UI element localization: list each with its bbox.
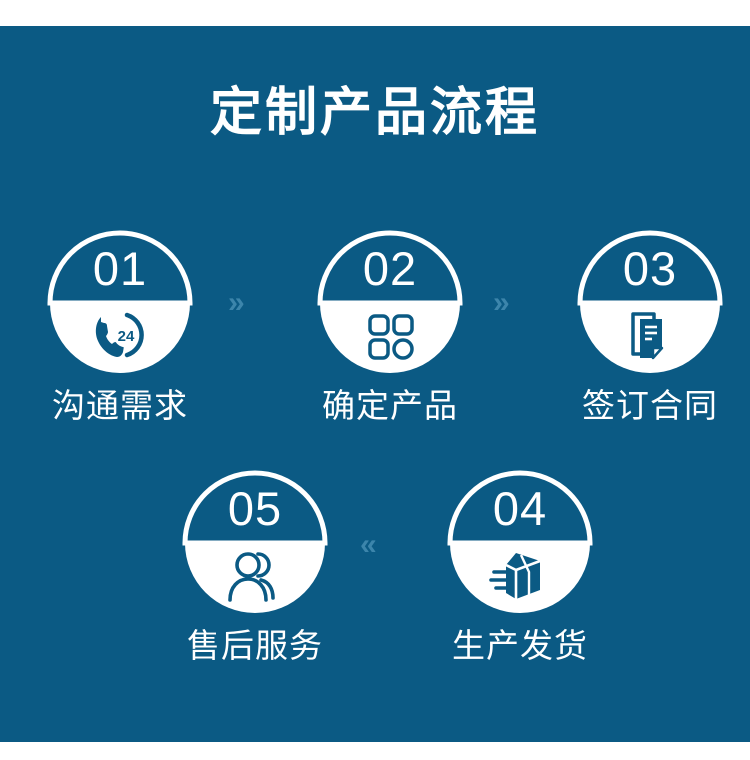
contract-document-icon xyxy=(618,310,682,364)
step-label-03: 签订合同 xyxy=(540,386,750,426)
step-number-03: 03 xyxy=(575,242,725,296)
arrow-step1-to-step2: » xyxy=(228,288,243,318)
step-label-05: 售后服务 xyxy=(145,626,365,666)
grid-squares-icon xyxy=(358,310,422,364)
step-circle-02: 02 xyxy=(315,228,465,378)
step-label-01: 沟通需求 xyxy=(10,386,230,426)
step-number-04: 04 xyxy=(445,482,595,536)
step-circle-05: 05 xyxy=(180,468,330,618)
step-number-01: 01 xyxy=(45,242,195,296)
step-label-04: 生产发货 xyxy=(410,626,630,666)
step-item-05[interactable]: 05 售后服务 xyxy=(180,468,330,618)
step-item-02[interactable]: 02 确定产品 xyxy=(315,228,465,378)
step-circle-01: 01 24 xyxy=(45,228,195,378)
infographic-canvas: 定制产品流程 01 24 沟通需求 xyxy=(0,0,750,760)
page-title: 定制产品流程 xyxy=(0,83,750,143)
svg-text:24: 24 xyxy=(118,328,135,345)
step-circle-03: 03 xyxy=(575,228,725,378)
step-item-03[interactable]: 03 签订合同 xyxy=(575,228,725,378)
step-label-02: 确定产品 xyxy=(280,386,500,426)
step-number-05: 05 xyxy=(180,482,330,536)
step-item-04[interactable]: 04 生产发货 xyxy=(445,468,595,618)
arrow-step4-to-step5: « xyxy=(360,530,375,560)
step-circle-04: 04 xyxy=(445,468,595,618)
step-number-02: 02 xyxy=(315,242,465,296)
arrow-step2-to-step3: » xyxy=(493,288,508,318)
shipping-box-icon xyxy=(488,550,552,604)
users-support-icon xyxy=(223,550,287,604)
phone-24h-support-icon: 24 xyxy=(88,310,152,364)
step-item-01[interactable]: 01 24 沟通需求 xyxy=(45,228,195,378)
